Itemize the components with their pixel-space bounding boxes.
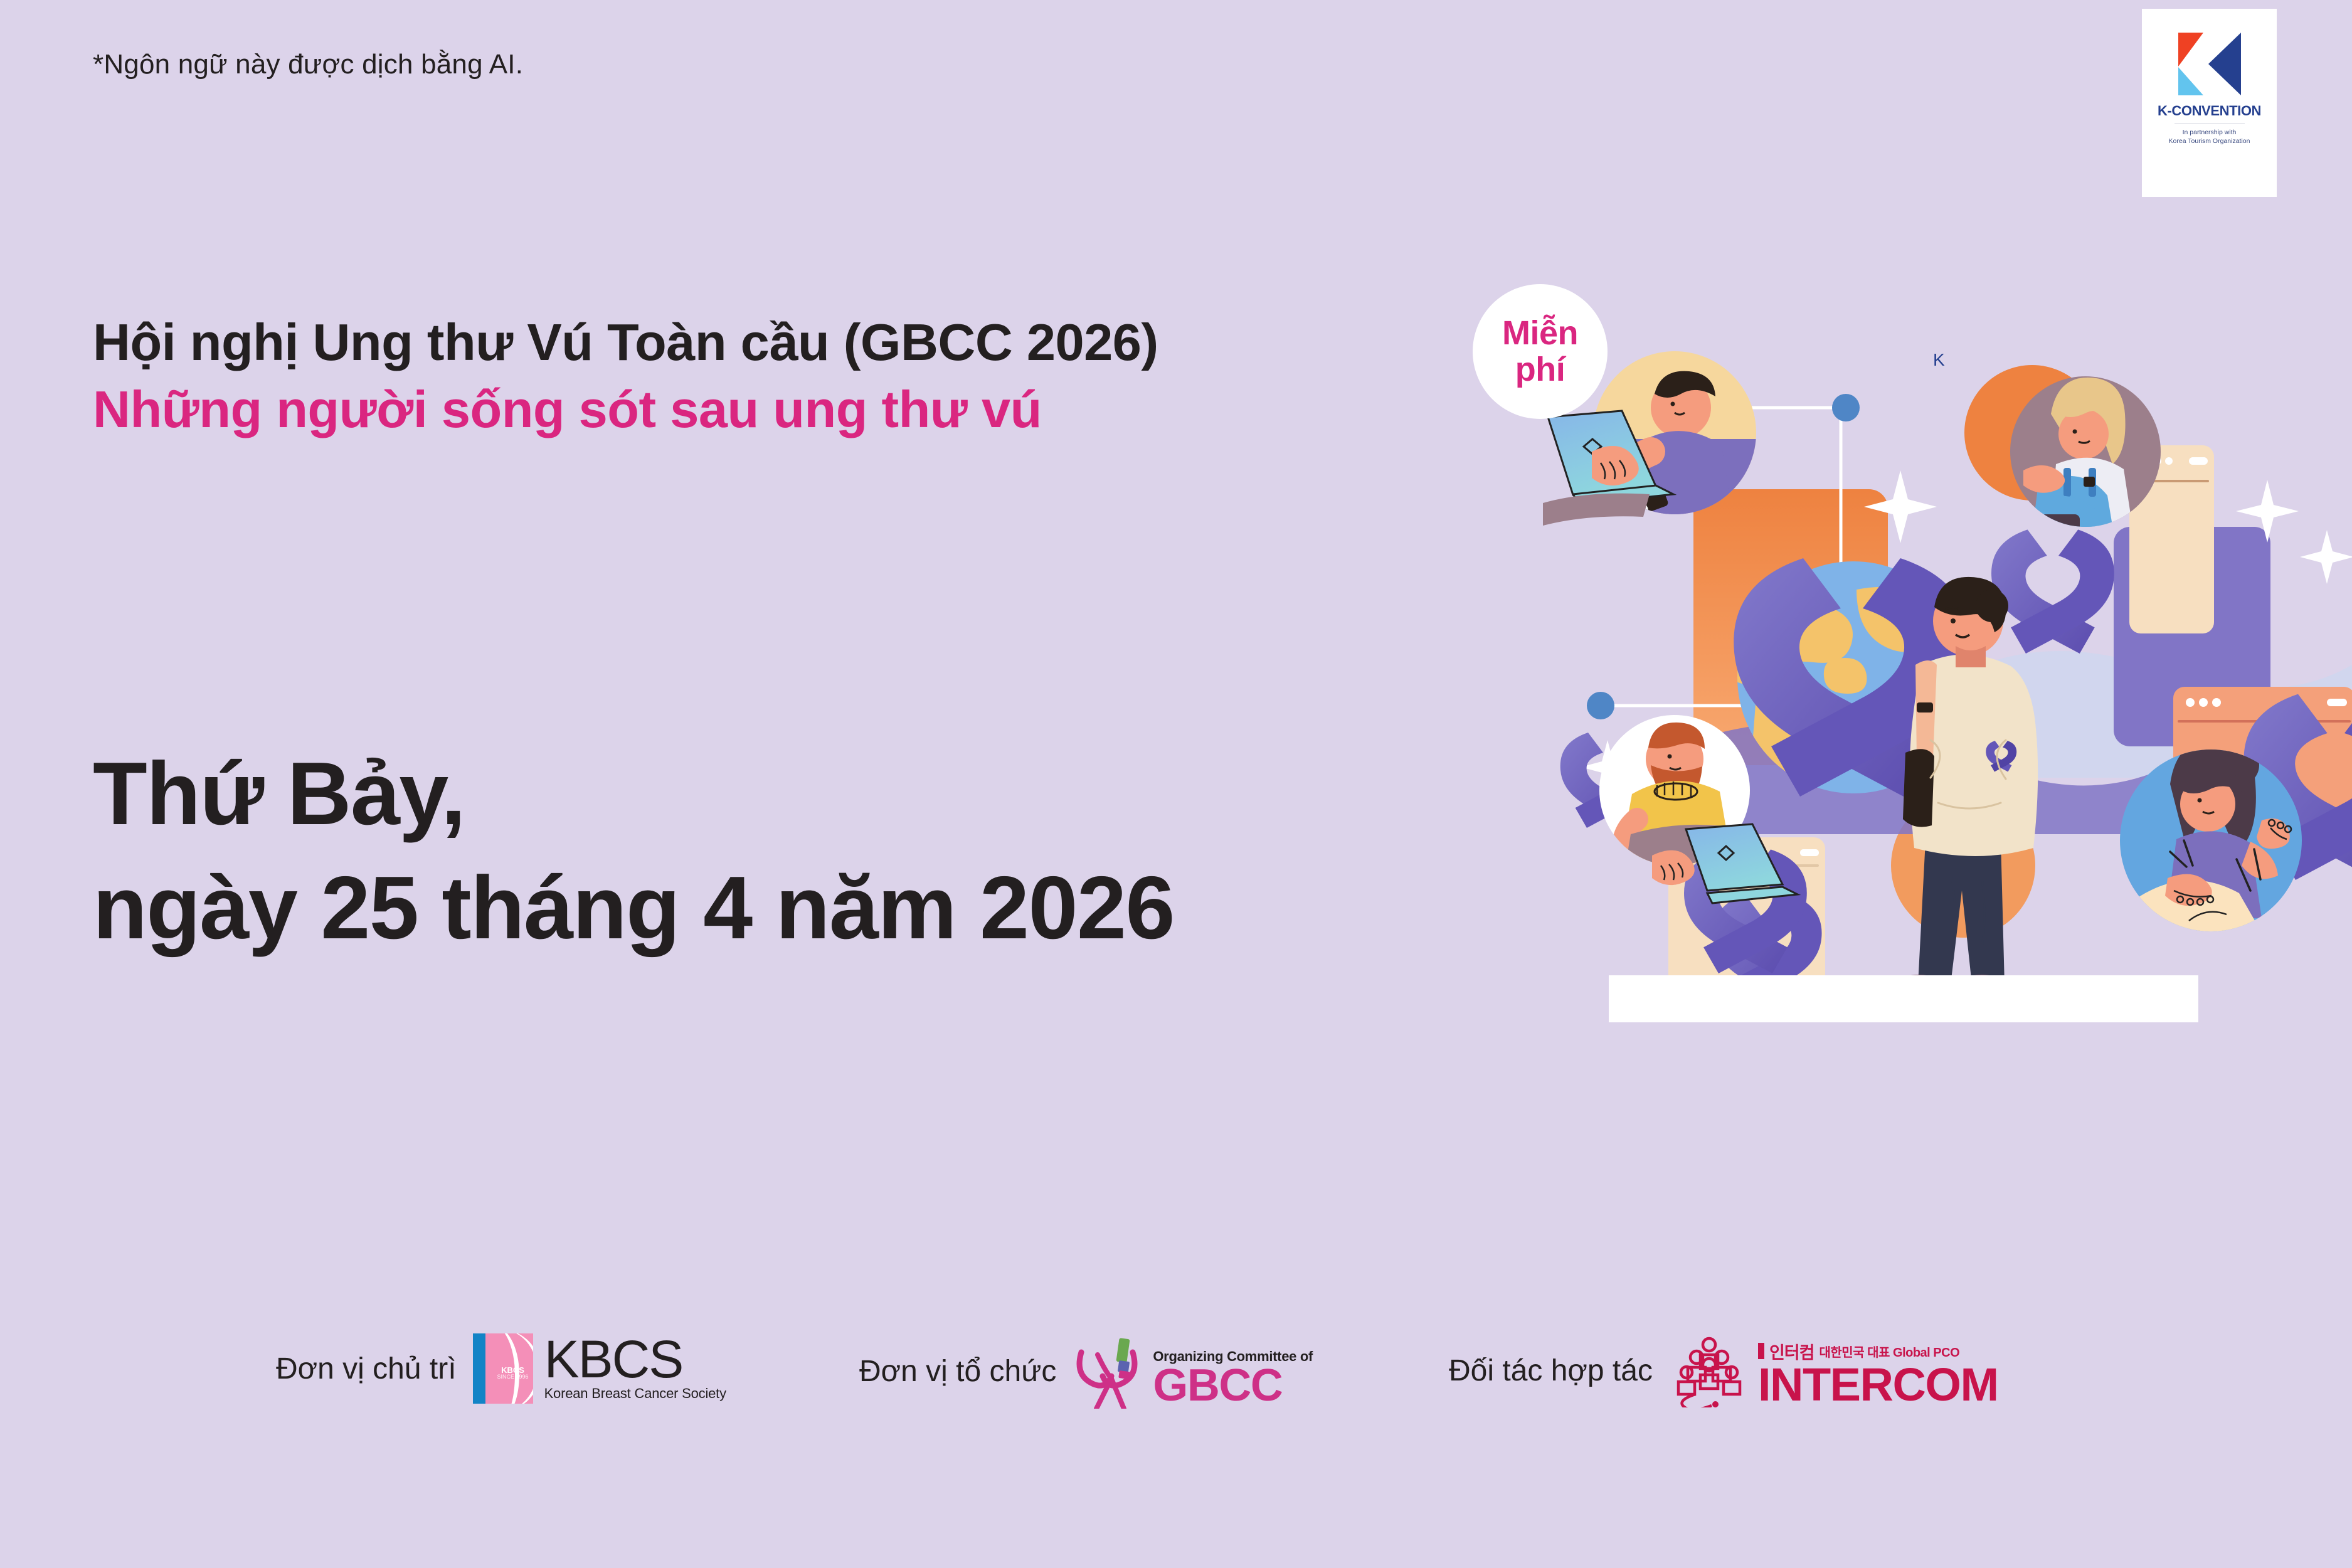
k-convention-divider	[2175, 124, 2245, 124]
host-group: Đơn vị chủ trì KBCS SINCE 1996 KBCS Kore…	[276, 1333, 726, 1404]
organizer-group: Đơn vị tổ chức Organizing Committee of G…	[859, 1333, 1313, 1409]
host-label: Đơn vị chủ trì	[276, 1352, 457, 1386]
k-convention-logo: K-CONVENTION In partnership with Korea T…	[2142, 9, 2277, 197]
event-date-line1: Thứ Bảy,	[93, 737, 1174, 851]
kbcs-mark-text: KBCS SINCE 1996	[497, 1366, 529, 1380]
free-badge-line2: phí	[1515, 352, 1565, 388]
kbcs-mark-icon: KBCS SINCE 1996	[473, 1333, 533, 1404]
intercom-korean-sub: 대한민국 대표 Global PCO	[1820, 1342, 1960, 1360]
kbcs-mark-sub: SINCE 1996	[497, 1374, 529, 1380]
kbcs-tagline: Korean Breast Cancer Society	[544, 1385, 726, 1402]
event-date-line2: ngày 25 tháng 4 năm 2026	[93, 851, 1174, 965]
logo-red-triangle	[2178, 33, 2203, 66]
logo-navy-triangle	[2208, 33, 2241, 95]
partner-group: Đối tác hợp tác	[1449, 1333, 1998, 1407]
gbcc-wordmark: GBCC	[1153, 1365, 1313, 1406]
partner-footer: Đơn vị chủ trì KBCS SINCE 1996 KBCS Kore…	[0, 1311, 2352, 1424]
gbcc-logo: Organizing Committee of GBCC	[1073, 1333, 1313, 1409]
logo-blue-triangle	[2178, 67, 2203, 95]
organizer-label: Đơn vị tổ chức	[859, 1354, 1056, 1389]
intercom-text-block: 인터컴 대한민국 대표 Global PCO INTERCOM	[1758, 1339, 1998, 1406]
gbcc-text-block: Organizing Committee of GBCC	[1153, 1348, 1313, 1406]
free-badge-line1: Miễn	[1502, 315, 1578, 351]
partner-label: Đối tác hợp tác	[1449, 1353, 1653, 1388]
k-convention-sub-line2: Korea Tourism Organization	[2169, 137, 2250, 146]
hero-illustration	[1486, 263, 2352, 1041]
headline-block: Hội nghị Ung thư Vú Toàn cầu (GBCC 2026)…	[93, 314, 1158, 441]
event-date-block: Thứ Bảy, ngày 25 tháng 4 năm 2026	[93, 737, 1174, 965]
k-convention-mark-icon	[2178, 33, 2241, 95]
k-convention-sub-line1: In partnership with	[2183, 128, 2237, 137]
gbcc-mark-icon	[1073, 1333, 1148, 1409]
intercom-wordmark: INTERCOM	[1758, 1364, 1998, 1406]
kbcs-logo: KBCS SINCE 1996 KBCS Korean Breast Cance…	[473, 1333, 726, 1404]
kbcs-text-block: KBCS Korean Breast Cancer Society	[544, 1335, 726, 1401]
intercom-accent-bar	[1758, 1343, 1764, 1359]
intercom-people-icon	[1669, 1333, 1749, 1407]
conference-title: Hội nghị Ung thư Vú Toàn cầu (GBCC 2026)	[93, 314, 1158, 372]
kbcs-wordmark: KBCS	[544, 1335, 726, 1384]
k-convention-name: K-CONVENTION	[2158, 103, 2261, 119]
conference-subtitle: Những người sống sót sau ung thư vú	[93, 378, 1158, 441]
free-badge: Miễn phí	[1473, 284, 1608, 419]
intercom-logo: 인터컴 대한민국 대표 Global PCO INTERCOM	[1669, 1333, 1998, 1407]
ai-translation-note: *Ngôn ngữ này được dịch bằng AI.	[93, 49, 523, 80]
